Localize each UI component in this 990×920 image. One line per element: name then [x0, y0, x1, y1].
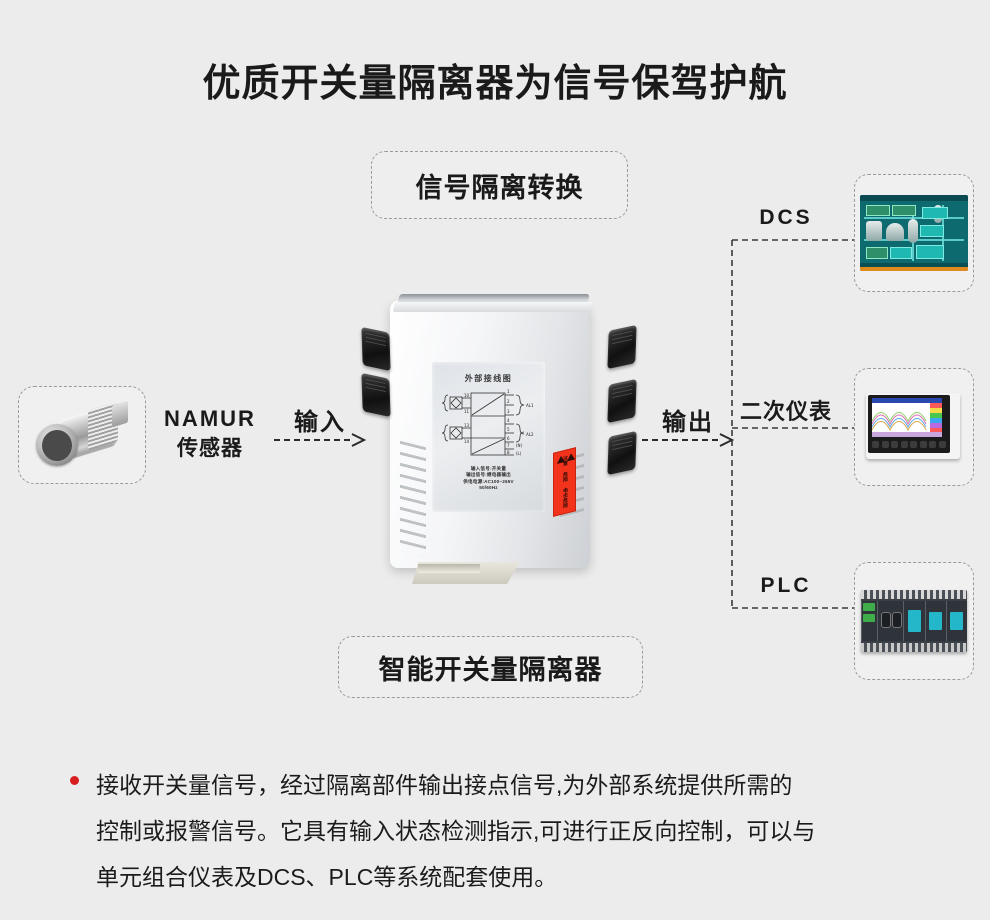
terminal-block-right-1 — [607, 325, 636, 369]
paperless-recorder-icon — [862, 387, 966, 467]
description-line-1: 接收开关量信号，经过隔离部件输出接点信号,为外部系统提供所需的 — [96, 762, 950, 808]
terminal-block-right-2 — [607, 379, 636, 423]
svg-text:1: 1 — [507, 389, 510, 394]
device-spec-text: 输入信号:开关量 输出信号:继电器输出 供电电源:AC100~265V 50/6… — [435, 466, 542, 492]
proximity-sensor-icon — [30, 400, 134, 470]
bullet-icon — [70, 776, 79, 785]
svg-text:2: 2 — [507, 399, 510, 404]
dcs-thumbnail — [854, 174, 974, 292]
svg-text:14: 14 — [464, 439, 470, 444]
input-arrow-icon — [274, 432, 366, 453]
namur-sensor-label-en: NAMUR — [152, 404, 268, 434]
svg-text:11: 11 — [464, 409, 470, 414]
namur-sensor-label-cn: 传感器 — [152, 434, 268, 464]
target-label-secondary-instrument: 二次仪表 — [726, 394, 846, 426]
svg-text:7: 7 — [507, 443, 510, 448]
plc-rack-icon — [861, 590, 967, 652]
output-arrow-icon — [642, 432, 734, 453]
page-title: 优质开关量隔离器为信号保驾护航 — [0, 52, 990, 107]
namur-sensor-thumbnail — [18, 386, 146, 484]
secondary-instrument-thumbnail — [854, 368, 974, 486]
wiring-diagram-graphic: 10 11 13 14 1 2 3 4 5 6 7 8 AL1 AL2 (N) … — [438, 386, 539, 466]
device-name-label: 智能开关量隔离器 — [379, 648, 603, 687]
device-top-shoulder — [393, 302, 593, 312]
terminal-block-right-3 — [607, 431, 636, 475]
plc-thumbnail — [854, 562, 974, 680]
namur-sensor-label: NAMUR 传感器 — [152, 404, 268, 464]
description-paragraph: 接收开关量信号，经过隔离部件输出接点信号,为外部系统提供所需的 控制或报警信号。… — [70, 762, 950, 900]
warning-triangle-icon-2 — [567, 452, 575, 461]
wiring-diagram-title: 外部接线图 — [432, 373, 545, 384]
svg-text:3: 3 — [507, 409, 510, 414]
signal-conversion-label: 信号隔离转换 — [416, 166, 584, 205]
terminal-block-left-1 — [361, 327, 390, 371]
scada-screen-icon — [860, 195, 968, 271]
svg-text:10: 10 — [464, 393, 470, 398]
svg-text:13: 13 — [464, 423, 470, 428]
svg-text:8: 8 — [507, 450, 510, 455]
device-name-callout: 智能开关量隔离器 — [338, 636, 643, 698]
svg-text:(N): (N) — [516, 443, 523, 448]
device-din-clip-inner — [418, 564, 480, 573]
target-label-dcs: DCS — [736, 206, 836, 230]
svg-text:(L): (L) — [516, 451, 522, 456]
svg-text:5: 5 — [507, 427, 510, 432]
device-label-plate: 外部接线图 — [432, 362, 545, 512]
target-label-plc: PLC — [736, 574, 836, 598]
terminal-block-left-2 — [361, 373, 390, 417]
infographic-page: 优质开关量隔离器为信号保驾护航 信号隔离转换 NAMUR 传感器 输入 — [0, 0, 990, 920]
svg-text:4: 4 — [507, 418, 510, 423]
signal-isolator-device: 外部接线图 — [356, 286, 644, 586]
description-line-3: 单元组合仪表及DCS、PLC等系统配套使用。 — [96, 854, 950, 900]
warning-sticker-text: 注意 危险 电击危险 — [560, 455, 569, 509]
signal-conversion-callout: 信号隔离转换 — [371, 151, 628, 219]
svg-text:6: 6 — [507, 436, 510, 441]
description-line-2: 控制或报警信号。它具有输入状态检测指示,可进行正反向控制，可以与 — [96, 808, 950, 854]
svg-text:AL1: AL1 — [526, 403, 534, 408]
svg-text:AL2: AL2 — [526, 432, 534, 437]
device-left-vents — [400, 441, 426, 557]
warning-sticker: 注意 危险 电击危险 — [553, 447, 576, 517]
